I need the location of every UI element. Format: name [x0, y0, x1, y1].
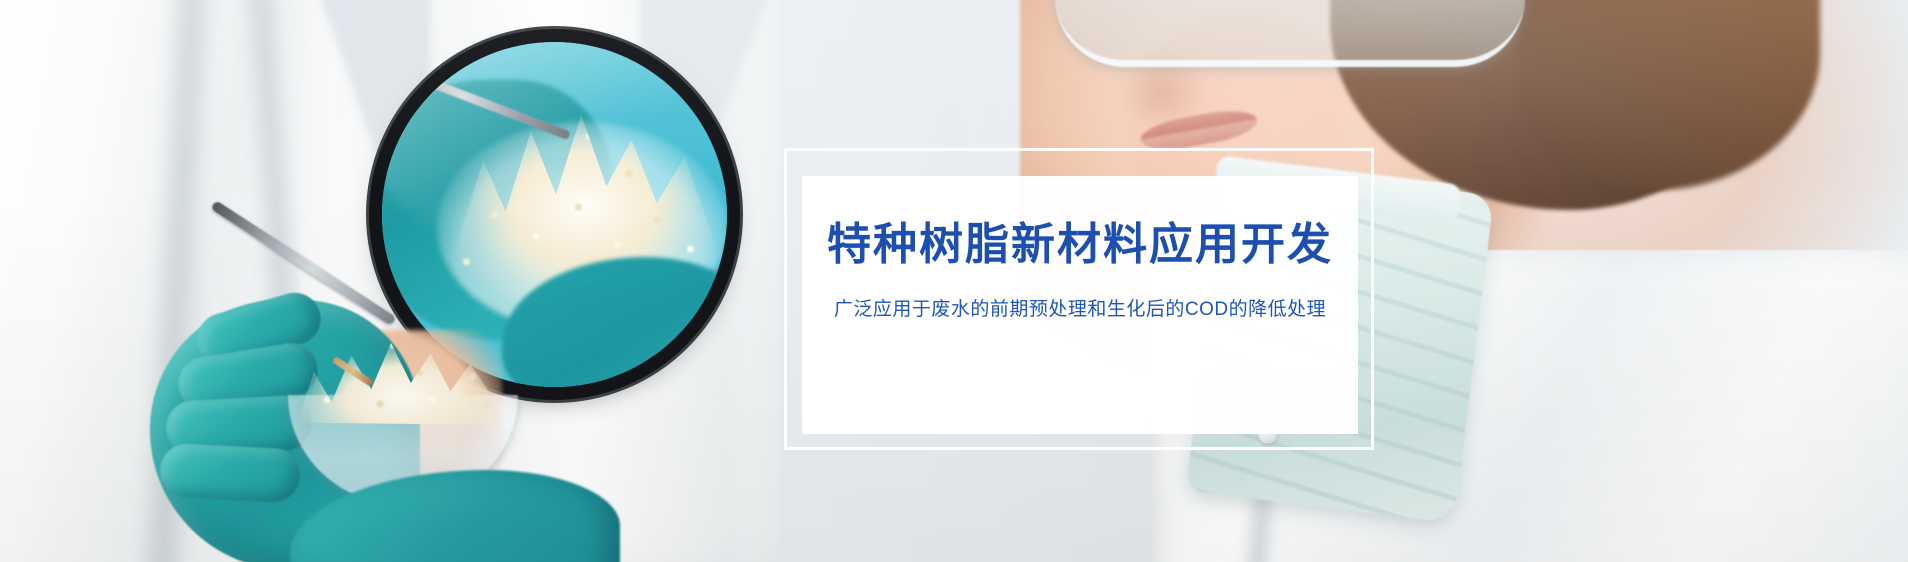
banner-headline: 特种树脂新材料应用开发 — [827, 220, 1333, 271]
glove-finger — [159, 442, 302, 503]
banner-text-card: 特种树脂新材料应用开发 广泛应用于废水的前期预处理和生化后的COD的降低处理 — [802, 176, 1358, 434]
safety-goggles — [1055, 0, 1525, 67]
banner-subline: 广泛应用于废水的前期预处理和生化后的COD的降低处理 — [834, 297, 1326, 324]
hero-banner: 特种树脂新材料应用开发 广泛应用于废水的前期预处理和生化后的COD的降低处理 — [0, 0, 1908, 562]
